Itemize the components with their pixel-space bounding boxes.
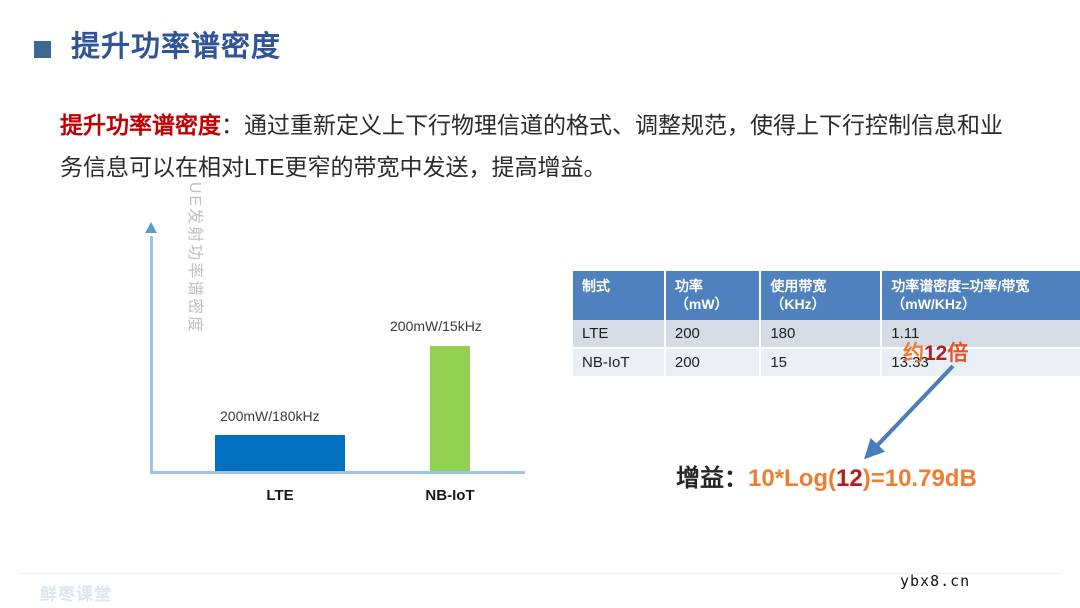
cell-power: 200 [666,320,761,349]
bar-chart: UE发射功率谱密度 200mW/180kHz 200mW/15kHz LTE N… [110,222,540,512]
psd-table: 制式 功率 （mW） 使用带宽 （KHz） 功率谱密度=功率/带宽 （mW/KH… [573,271,1080,378]
footer-brand: 鲜枣课堂 [40,580,112,605]
header-cell-system: 制式 [573,271,666,320]
page-title: 提升功率谱密度 [71,33,281,62]
table-row: LTE 200 180 1.11 [573,320,1080,349]
cell-system: NB-IoT [573,349,666,378]
table-header-row: 制式 功率 （mW） 使用带宽 （KHz） 功率谱密度=功率/带宽 （mW/KH… [573,271,1080,320]
cell-bandwidth: 180 [761,320,882,349]
cell-power: 200 [666,349,761,378]
psd-table-container: 制式 功率 （mW） 使用带宽 （KHz） 功率谱密度=功率/带宽 （mW/KH… [573,271,1080,378]
gain-expr-first: 10*Log( [748,465,836,492]
gain-label: 增益： [676,465,748,492]
header-line2: （mW） [675,295,750,313]
gain-expr-number: 12 [836,465,863,492]
pointer-arrow-icon [845,358,965,468]
y-axis-arrow-icon [145,222,157,233]
slide-title: 提升功率谱密度 [34,33,281,62]
x-axis-line [150,471,525,474]
gain-formula: 增益：10*Log(12)=10.79dB [676,458,977,493]
cell-system: LTE [573,320,666,349]
table-row: NB-IoT 200 15 13.33 [573,349,1080,378]
category-label-nbiot: NB-IoT [405,487,495,504]
paragraph-lead: 提升功率谱密度 [60,112,221,138]
bullet-square-icon [34,41,51,58]
category-label-lte: LTE [240,487,320,504]
header-line1: 功率 [675,277,750,295]
header-line1: 使用带宽 [770,277,871,295]
header-cell-power: 功率 （mW） [666,271,761,320]
y-axis-title: UE发射功率谱密度 [185,163,209,353]
bar-nbiot [430,346,470,471]
header-line2: （KHz） [770,295,871,313]
header-cell-psd: 功率谱密度=功率/带宽 （mW/KHz） [882,271,1080,320]
gain-expr-second: )=10.79dB [863,465,977,492]
header-line1: 制式 [582,277,655,295]
bar-lte [215,435,345,471]
bar-value-label-lte: 200mW/180kHz [220,408,320,424]
header-cell-bandwidth: 使用带宽 （KHz） [761,271,882,320]
header-line2: （mW/KHz） [891,295,1071,313]
watermark-text: ybx8.cn [900,572,970,590]
header-line1: 功率谱密度=功率/带宽 [891,277,1071,295]
y-axis-line [150,236,153,474]
bar-value-label-nbiot: 200mW/15kHz [390,318,482,334]
